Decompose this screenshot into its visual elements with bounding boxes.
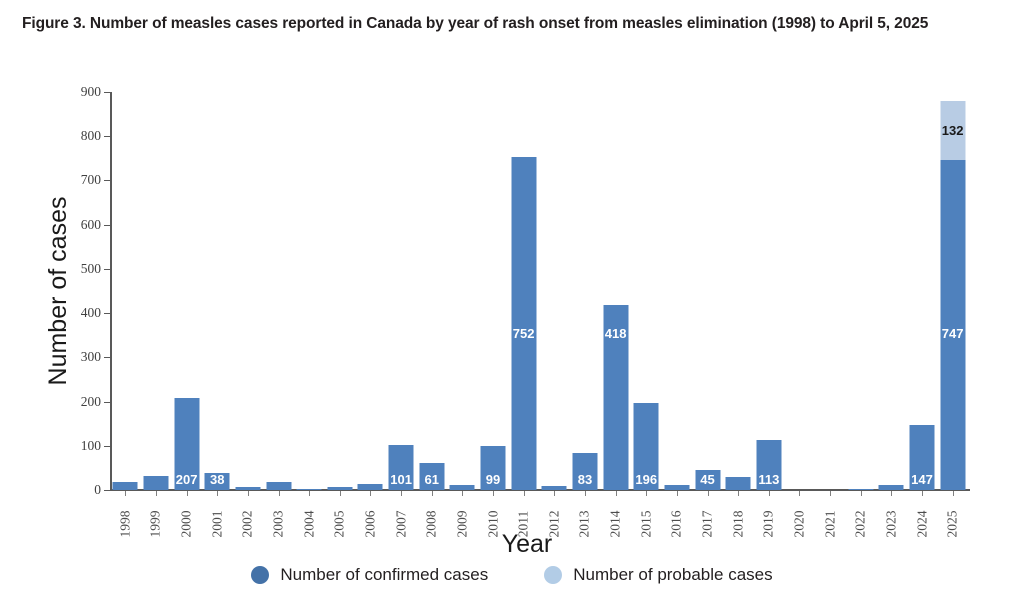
y-tick-label: 800 <box>81 128 101 144</box>
y-tick-label: 100 <box>81 438 101 454</box>
y-axis-title: Number of cases <box>38 92 78 490</box>
x-tick-mark-2017 <box>708 491 709 496</box>
bar-stack[interactable]: 38 <box>205 473 230 490</box>
bar-group-2002[interactable] <box>233 92 264 490</box>
x-tick-mark-2007 <box>401 491 402 496</box>
bar-stack[interactable] <box>143 476 168 490</box>
bar-group-2018[interactable] <box>723 92 754 490</box>
bar-segment-confirmed[interactable]: 207 <box>174 398 199 490</box>
bar-segment-confirmed[interactable]: 99 <box>481 446 506 490</box>
x-tick-mark-2008 <box>432 491 433 496</box>
bar-value-label-confirmed: 418 <box>605 327 627 340</box>
bar-group-2005[interactable] <box>325 92 356 490</box>
bar-segment-confirmed[interactable] <box>266 482 291 490</box>
bar-stack[interactable]: 418 <box>603 305 628 490</box>
bar-value-label-confirmed: 101 <box>390 473 412 486</box>
x-tick-mark-2004 <box>309 491 310 496</box>
x-tick-mark-2000 <box>187 491 188 496</box>
bar-group-2015[interactable]: 196 <box>631 92 662 490</box>
bar-group-2010[interactable]: 99 <box>478 92 509 490</box>
bar-segment-confirmed[interactable] <box>143 476 168 490</box>
bar-group-1998[interactable] <box>110 92 141 490</box>
bar-group-2009[interactable] <box>447 92 478 490</box>
bar-group-2012[interactable] <box>539 92 570 490</box>
circle-marker-icon <box>251 566 269 584</box>
bar-value-label-confirmed: 61 <box>425 473 439 486</box>
bar-stack[interactable] <box>358 484 383 490</box>
chart-legend: Number of confirmed casesNumber of proba… <box>0 565 1024 585</box>
bar-segment-confirmed[interactable] <box>726 477 751 490</box>
bar-segment-confirmed[interactable]: 101 <box>389 445 414 490</box>
bar-stack[interactable] <box>542 486 567 490</box>
bar-stack[interactable] <box>327 487 352 490</box>
bar-stack[interactable]: 101 <box>389 445 414 490</box>
x-tick-mark-2016 <box>677 491 678 496</box>
y-tick-label: 200 <box>81 394 101 410</box>
bar-segment-confirmed[interactable] <box>113 482 138 490</box>
bar-segment-confirmed[interactable]: 61 <box>419 463 444 490</box>
x-axis-title: Year <box>502 530 553 558</box>
x-tick-mark-2014 <box>616 491 617 496</box>
bar-group-1999[interactable] <box>141 92 172 490</box>
bar-segment-confirmed[interactable] <box>297 489 322 491</box>
bar-group-2019[interactable]: 113 <box>754 92 785 490</box>
bar-group-2007[interactable]: 101 <box>386 92 417 490</box>
legend-item-probable[interactable]: Number of probable cases <box>544 565 772 585</box>
bar-stack[interactable]: 196 <box>634 403 659 490</box>
bar-value-label-confirmed: 38 <box>210 473 224 486</box>
legend-label: Number of confirmed cases <box>280 565 488 585</box>
x-tick-mark-2003 <box>279 491 280 496</box>
x-tick-mark-2012 <box>554 491 555 496</box>
bar-segment-confirmed[interactable]: 196 <box>634 403 659 490</box>
bar-value-label-confirmed: 196 <box>635 473 657 486</box>
bar-segment-confirmed[interactable]: 747 <box>940 160 965 490</box>
y-tick-label: 300 <box>81 349 101 365</box>
x-tick-mark-2011 <box>524 491 525 496</box>
bar-segment-confirmed[interactable]: 418 <box>603 305 628 490</box>
bar-segment-confirmed[interactable]: 147 <box>910 425 935 490</box>
bar-stack[interactable]: 113 <box>756 440 781 490</box>
bar-segment-confirmed[interactable]: 45 <box>695 470 720 490</box>
bar-group-2004[interactable] <box>294 92 325 490</box>
bar-stack[interactable]: 99 <box>481 446 506 490</box>
bar-segment-confirmed[interactable] <box>542 486 567 490</box>
bar-value-label-confirmed: 45 <box>700 473 714 486</box>
y-tick-label: 700 <box>81 172 101 188</box>
bar-stack[interactable]: 207 <box>174 398 199 490</box>
bar-stack[interactable] <box>297 489 322 491</box>
bar-stack[interactable]: 132747 <box>940 101 965 490</box>
x-tick-mark-2010 <box>493 491 494 496</box>
x-tick-mark-2005 <box>340 491 341 496</box>
x-tick-mark-2002 <box>248 491 249 496</box>
bar-segment-confirmed[interactable] <box>848 489 873 491</box>
bar-stack[interactable]: 45 <box>695 470 720 490</box>
bar-stack[interactable]: 61 <box>419 463 444 490</box>
legend-label: Number of probable cases <box>573 565 772 585</box>
bar-stack[interactable] <box>266 482 291 490</box>
bar-stack[interactable] <box>235 487 260 490</box>
bar-group-2025[interactable]: 132747 <box>937 92 968 490</box>
bar-group-2014[interactable]: 418 <box>600 92 631 490</box>
bar-group-2006[interactable] <box>355 92 386 490</box>
bar-segment-confirmed[interactable]: 752 <box>511 157 536 490</box>
x-tick-mark-2020 <box>799 491 800 496</box>
x-tick-mark-2023 <box>891 491 892 496</box>
bar-stack[interactable] <box>879 485 904 490</box>
x-tick-mark-2015 <box>646 491 647 496</box>
bar-group-2020[interactable] <box>784 92 815 490</box>
bar-group-2023[interactable] <box>876 92 907 490</box>
bar-segment-confirmed[interactable] <box>327 487 352 490</box>
bar-value-label-confirmed: 83 <box>578 473 592 486</box>
figure-container: Figure 3. Number of measles cases report… <box>0 0 1024 607</box>
y-tick-label: 0 <box>94 482 101 498</box>
bar-value-label-confirmed: 207 <box>176 473 198 486</box>
page-title: Figure 3. Number of measles cases report… <box>22 12 962 36</box>
bar-group-2021[interactable] <box>815 92 846 490</box>
bar-group-2024[interactable]: 147 <box>907 92 938 490</box>
bar-segment-confirmed[interactable]: 83 <box>572 453 597 490</box>
bar-stack[interactable] <box>450 485 475 490</box>
y-tick-label: 600 <box>81 217 101 233</box>
x-tick-mark-2021 <box>830 491 831 496</box>
x-tick-mark-2019 <box>769 491 770 496</box>
x-tick-mark-2001 <box>217 491 218 496</box>
bar-stack[interactable]: 147 <box>910 425 935 490</box>
bar-segment-confirmed[interactable] <box>358 484 383 490</box>
bar-group-2011[interactable]: 752 <box>508 92 539 490</box>
bar-value-label-probable: 132 <box>942 124 964 137</box>
circle-marker-icon <box>544 566 562 584</box>
bar-group-2013[interactable]: 83 <box>570 92 601 490</box>
x-tick-mark-2025 <box>953 491 954 496</box>
bar-value-label-confirmed: 752 <box>513 327 535 340</box>
bar-segment-confirmed[interactable]: 38 <box>205 473 230 490</box>
bar-segment-confirmed[interactable] <box>664 485 689 490</box>
x-tick-mark-1998 <box>125 491 126 496</box>
bar-group-2000[interactable]: 207 <box>171 92 202 490</box>
bar-stack[interactable] <box>848 489 873 491</box>
bar-segment-confirmed[interactable] <box>879 485 904 490</box>
bar-value-label-confirmed: 113 <box>758 473 779 486</box>
bar-group-2003[interactable] <box>263 92 294 490</box>
bar-value-label-confirmed: 747 <box>942 327 964 340</box>
y-tick-mark <box>104 490 110 491</box>
bar-group-2001[interactable]: 38 <box>202 92 233 490</box>
bar-value-label-confirmed: 99 <box>486 473 500 486</box>
bar-segment-confirmed[interactable]: 113 <box>756 440 781 490</box>
bar-value-label-confirmed: 147 <box>911 473 933 486</box>
bar-group-2017[interactable]: 45 <box>692 92 723 490</box>
x-tick-mark-2006 <box>370 491 371 496</box>
bar-stack[interactable] <box>726 477 751 490</box>
y-tick-label: 500 <box>81 261 101 277</box>
bar-segment-confirmed[interactable] <box>235 487 260 490</box>
bar-stack[interactable] <box>113 482 138 490</box>
x-tick-mark-2024 <box>922 491 923 496</box>
x-tick-mark-2009 <box>462 491 463 496</box>
x-tick-mark-2013 <box>585 491 586 496</box>
bar-stack[interactable]: 752 <box>511 157 536 490</box>
x-axis-title-container: Year <box>0 530 1024 559</box>
bar-stack[interactable] <box>664 485 689 490</box>
y-axis-title-container: Number of cases <box>24 92 64 490</box>
bar-stack[interactable]: 83 <box>572 453 597 490</box>
plot-area: 0100200300400500600700800900 20738101619… <box>110 92 968 490</box>
legend-item-confirmed[interactable]: Number of confirmed cases <box>251 565 488 585</box>
bar-group-2008[interactable]: 61 <box>416 92 447 490</box>
bar-group-2016[interactable] <box>662 92 693 490</box>
x-tick-mark-2018 <box>738 491 739 496</box>
bar-segment-confirmed[interactable] <box>450 485 475 490</box>
bar-group-2022[interactable] <box>845 92 876 490</box>
x-tick-mark-2022 <box>861 491 862 496</box>
y-tick-label: 900 <box>81 84 101 100</box>
bar-segment-probable[interactable]: 132 <box>940 101 965 159</box>
y-tick-label: 400 <box>81 305 101 321</box>
x-tick-mark-1999 <box>156 491 157 496</box>
